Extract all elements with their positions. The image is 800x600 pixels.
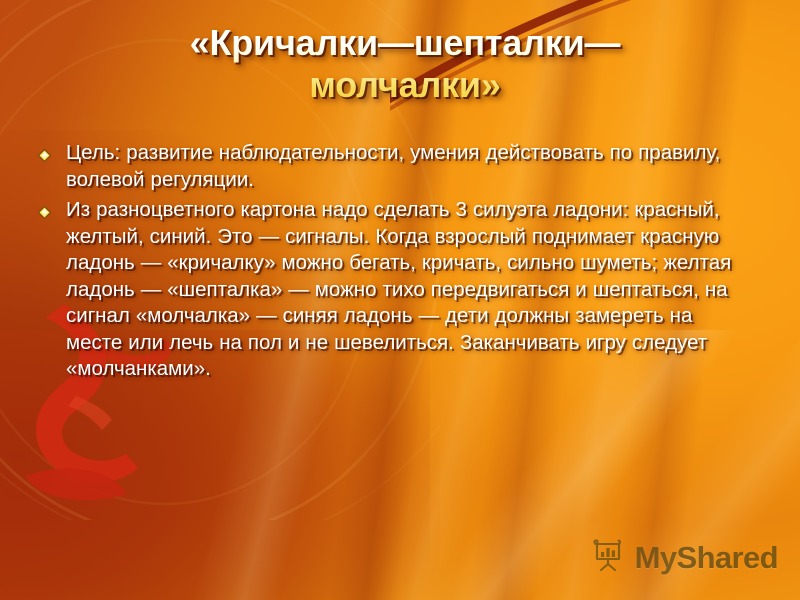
slide-title-line-2: молчалки» [60, 64, 750, 106]
myshared-wordmark-my: My [635, 540, 677, 575]
bullet-item: Цель: развитие наблюдательности, умения … [38, 140, 738, 193]
slide-title: «Кричалки—шепталки— молчалки» [60, 22, 750, 107]
bullet-item: Из разноцветного картона надо сделать 3 … [38, 197, 738, 383]
bullet-text: Из разноцветного картона надо сделать 3 … [66, 197, 738, 383]
diamond-bullet-icon [38, 197, 66, 224]
slide-body: Цель: развитие наблюдательности, умения … [38, 140, 738, 387]
diamond-bullet-icon [38, 140, 66, 167]
slide-title-line-1: «Кричалки—шепталки— [60, 22, 750, 64]
presentation-slide: «Кричалки—шепталки— молчалки» Цель: разв… [0, 0, 800, 600]
myshared-watermark: MyShared [591, 537, 778, 578]
easel-chart-icon [591, 537, 627, 578]
bullet-text: Цель: развитие наблюдательности, умения … [66, 140, 738, 193]
myshared-wordmark: MyShared [635, 540, 778, 576]
myshared-wordmark-shared: Shared [677, 540, 779, 575]
